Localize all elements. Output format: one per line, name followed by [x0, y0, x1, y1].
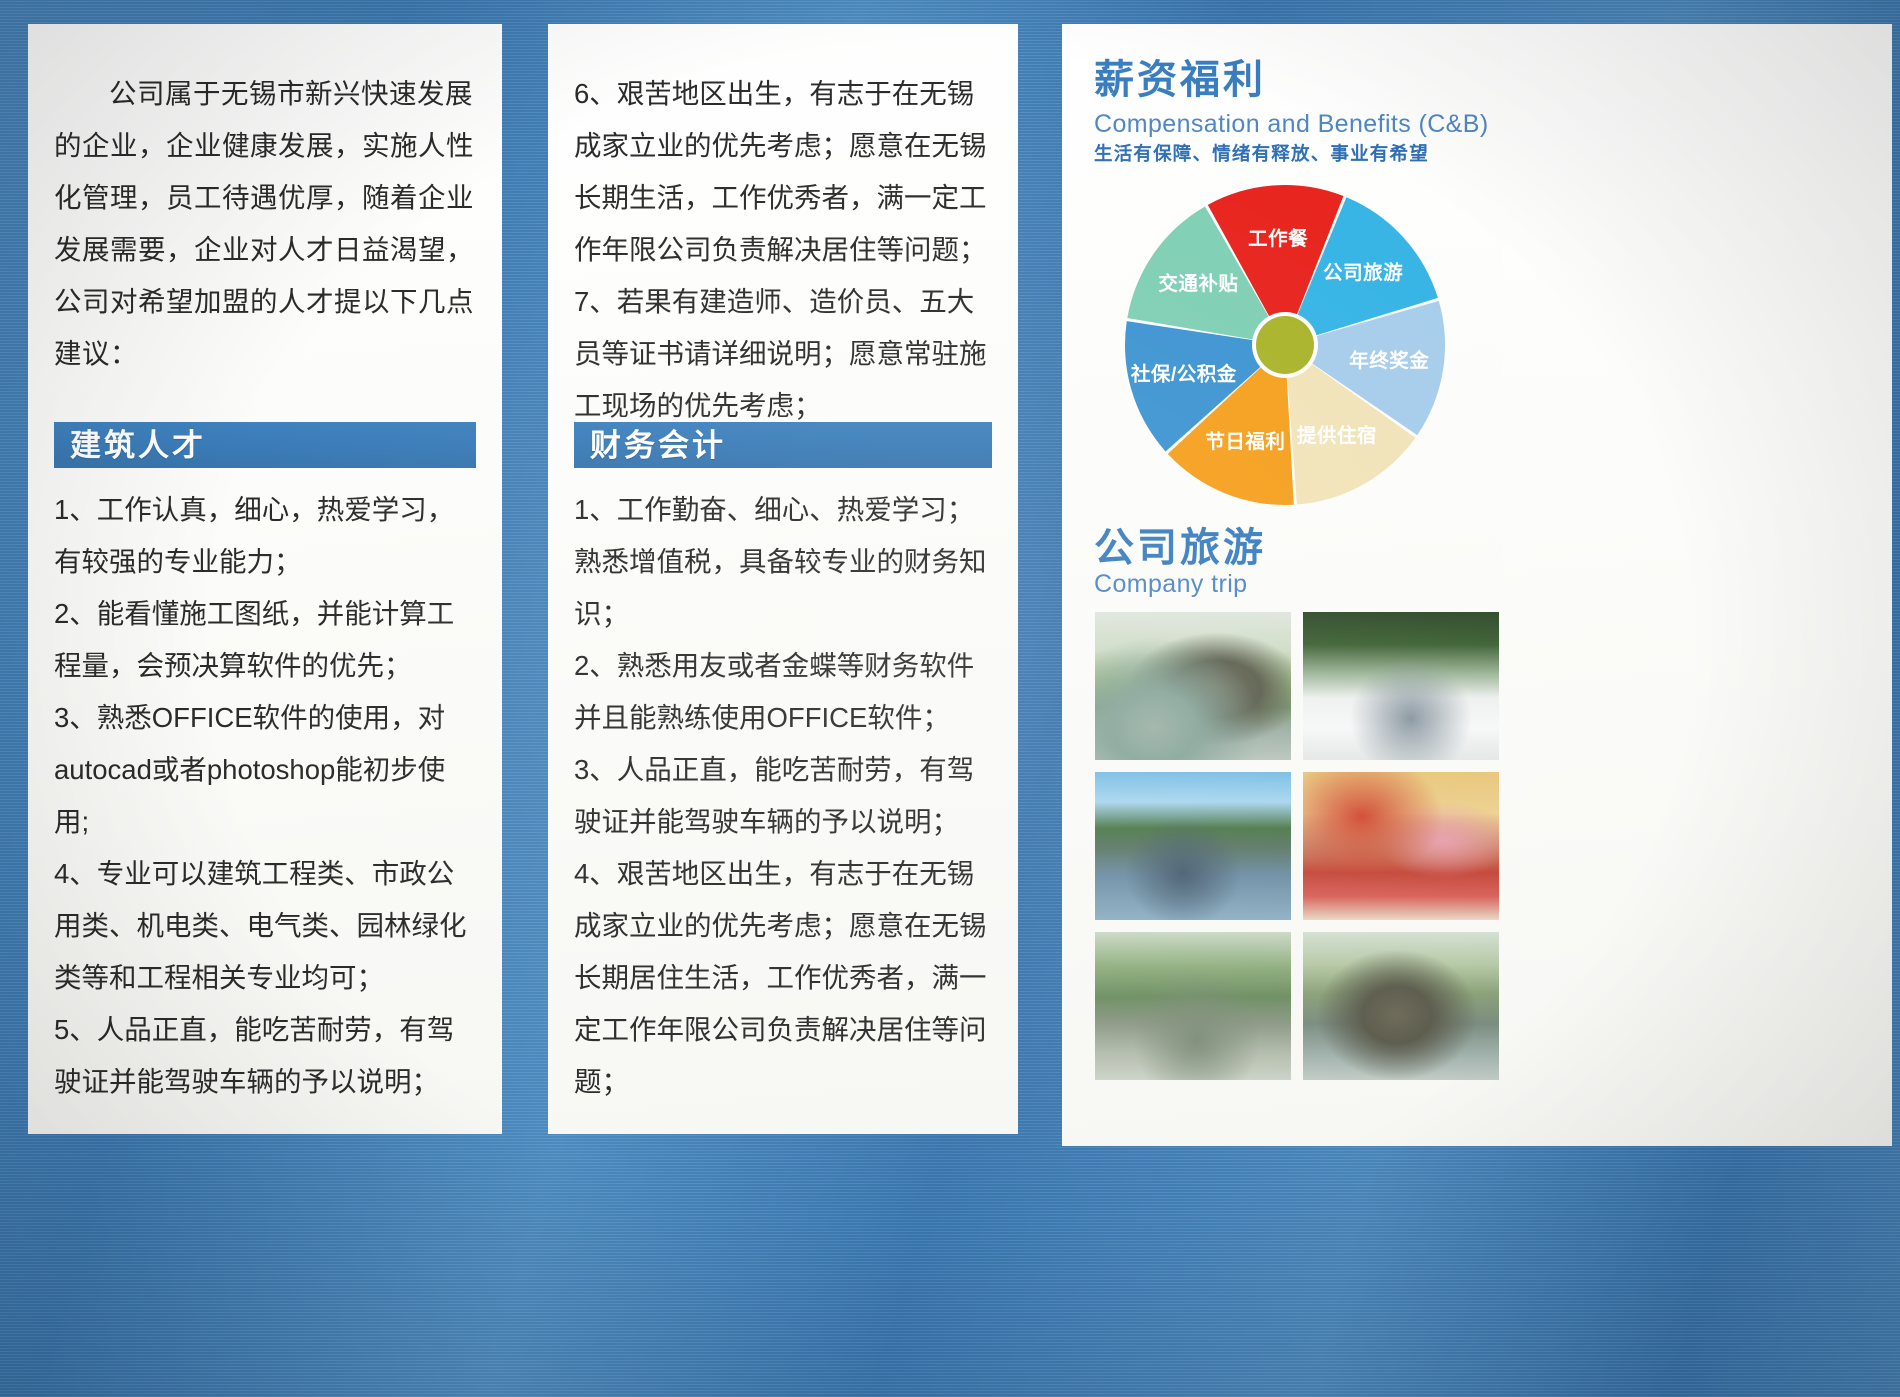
list-item: 1、工作勤奋、细心、热爱学习；熟悉增值税，具备较专业的财务知识；	[574, 484, 992, 640]
list-item: 1、工作认真，细心，热爱学习，有较强的专业能力；	[54, 484, 476, 588]
list-item: 3、熟悉OFFICE软件的使用，对autocad或者photoshop能初步使用…	[54, 692, 476, 848]
trip-photo-elephant-group-second	[1303, 932, 1499, 1080]
pie-slice-label-6: 工作餐	[1248, 227, 1308, 250]
pie-slice-label-5: 交通补贴	[1158, 272, 1238, 295]
photo-surface	[1303, 772, 1499, 920]
list-item: 2、熟悉用友或者金蝶等财务软件并且能熟练使用OFFICE软件；	[574, 640, 992, 744]
list-item: 4、艰苦地区出生，有志于在无锡成家立业的优先考虑；愿意在无锡长期居住生活，工作优…	[574, 848, 992, 1108]
photo-surface	[1095, 932, 1291, 1080]
section-bar-finance-accounting: 财务会计	[574, 422, 992, 468]
panel-middle: 6、艰苦地区出生，有志于在无锡成家立业的优先考虑；愿意在无锡长期生活，工作优秀者…	[548, 24, 1018, 1134]
pie-slice-label-1: 年终奖金	[1349, 349, 1429, 372]
pie-slice-label-4: 社保/公积金	[1130, 362, 1237, 385]
benefits-heading-cn: 薪资福利	[1094, 60, 1266, 100]
intro-paragraph: 公司属于无锡市新兴快速发展的企业，企业健康发展，实施人性化管理，员工待遇优厚，随…	[28, 68, 502, 380]
pie-slice-label-2: 提供住宿	[1297, 424, 1377, 447]
list-item: 4、专业可以建筑工程类、市政公用类、机电类、电气类、园林绿化类等和工程相关专业均…	[54, 848, 476, 1004]
pie-slice-label-0: 公司旅游	[1323, 261, 1403, 284]
benefits-tagline: 生活有保障、情绪有释放、事业有希望	[1094, 145, 1429, 164]
list-item: 5、人品正直，能吃苦耐劳，有驾驶证并能驾驶车辆的予以说明；	[54, 1004, 476, 1108]
section-title-finance-accounting: 财务会计	[590, 430, 726, 461]
trip-heading-en: Company trip	[1094, 572, 1247, 597]
trip-photo-beach-group-waving	[1095, 772, 1291, 920]
trip-photo-group-on-white-sand	[1303, 612, 1499, 760]
trip-heading-cn: 公司旅游	[1094, 528, 1266, 568]
photo-surface	[1303, 612, 1499, 760]
pie-hub-core	[1256, 316, 1314, 374]
benefits-heading-en: Compensation and Benefits (C&B)	[1094, 112, 1489, 137]
trip-photo-group-outdoor-portrait	[1095, 932, 1291, 1080]
list-item: 3、人品正直，能吃苦耐劳，有驾驶证并能驾驶车辆的予以说明；	[574, 744, 992, 848]
photo-surface	[1095, 612, 1291, 760]
pie-slice-label-3: 节日福利	[1205, 430, 1285, 453]
trip-photo-restaurant-table-group	[1303, 772, 1499, 920]
benefits-pie-chart: 公司旅游年终奖金提供住宿节日福利社保/公积金交通补贴工作餐	[1120, 180, 1450, 510]
requirements-list-finance: 1、工作勤奋、细心、热爱学习；熟悉增值税，具备较专业的财务知识； 2、熟悉用友或…	[548, 484, 1018, 1108]
paper-texture-right-outer	[1502, 24, 1892, 1146]
panel-right-outer	[1502, 24, 1892, 1146]
section-title-construction-talent: 建筑人才	[70, 430, 206, 461]
list-item: 2、能看懂施工图纸，并能计算工程量，会预决算软件的优先；	[54, 588, 476, 692]
list-item: 6、艰苦地区出生，有志于在无锡成家立业的优先考虑；愿意在无锡长期生活，工作优秀者…	[574, 68, 992, 276]
pie-chart-svg: 公司旅游年终奖金提供住宿节日福利社保/公积金交通补贴工作餐	[1120, 180, 1450, 510]
photo-surface	[1303, 932, 1499, 1080]
photo-surface	[1095, 772, 1291, 920]
list-item: 7、若果有建造师、造价员、五大员等证书请详细说明；愿意常驻施工现场的优先考虑；	[574, 276, 992, 432]
section-bar-construction-talent: 建筑人才	[54, 422, 476, 468]
trip-photo-elephant-river-ride	[1095, 612, 1291, 760]
panel-left: 公司属于无锡市新兴快速发展的企业，企业健康发展，实施人性化管理，员工待遇优厚，随…	[28, 24, 502, 1134]
requirements-list-continued: 6、艰苦地区出生，有志于在无锡成家立业的优先考虑；愿意在无锡长期生活，工作优秀者…	[548, 68, 1018, 432]
requirements-list-construction: 1、工作认真，细心，热爱学习，有较强的专业能力； 2、能看懂施工图纸，并能计算工…	[28, 484, 502, 1108]
